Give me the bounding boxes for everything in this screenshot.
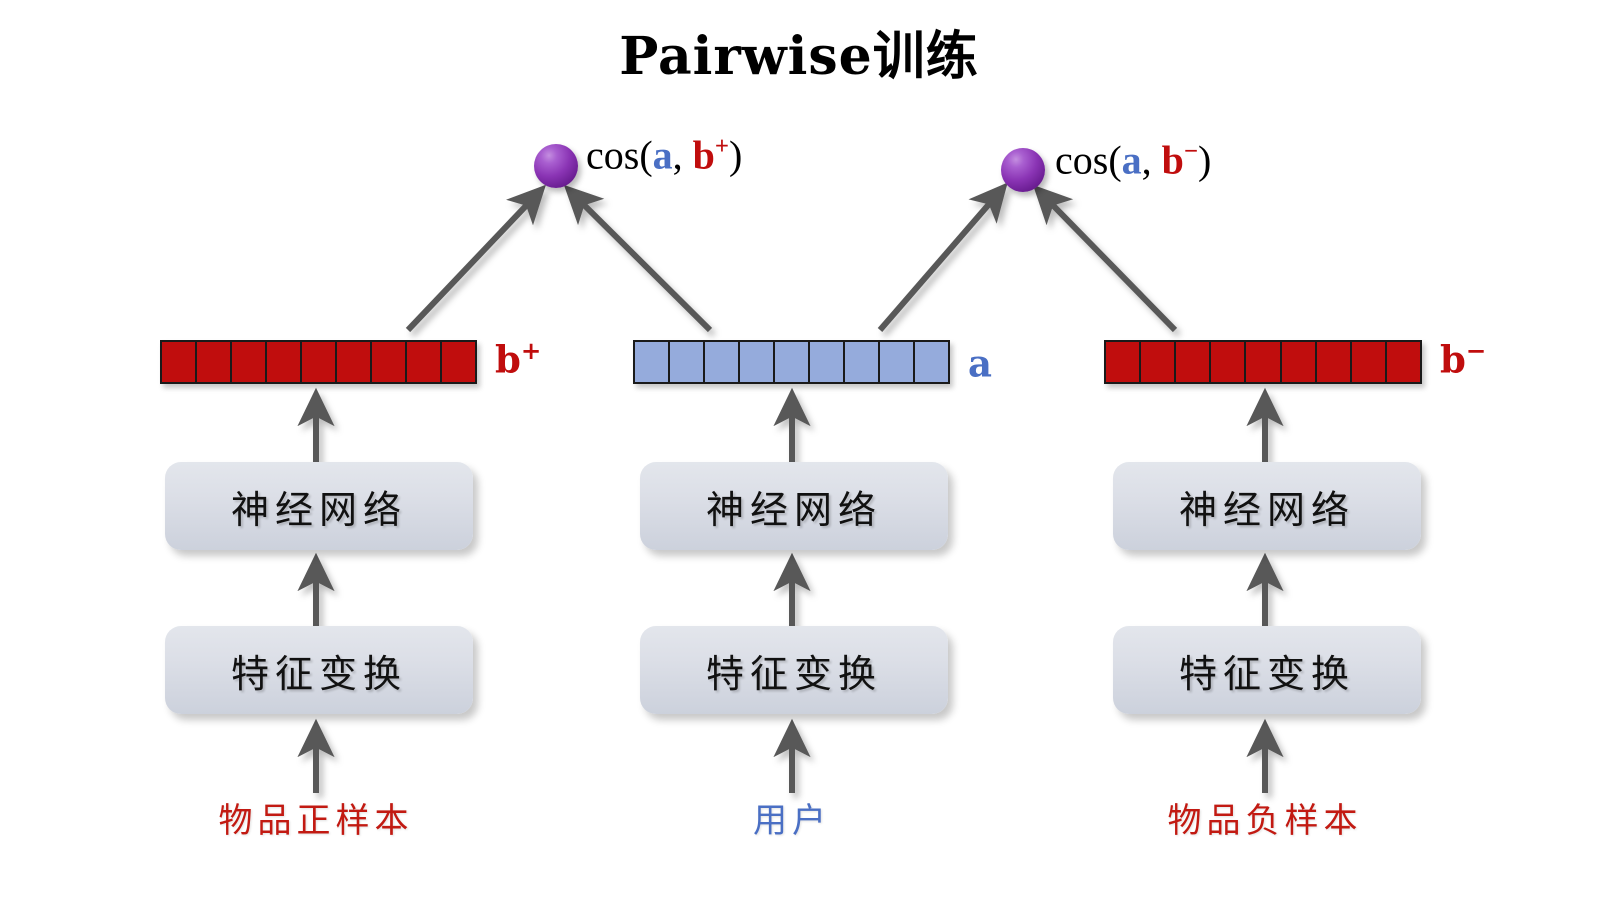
vector-cell xyxy=(337,342,372,382)
vector-cell xyxy=(302,342,337,382)
vector-cell xyxy=(267,342,302,382)
page-title: Pairwise训练 xyxy=(0,14,1598,89)
vector-cell xyxy=(705,342,740,382)
cos-arg-b-negative: b xyxy=(1162,137,1184,182)
score-expression-positive: cos(a, b+) xyxy=(586,135,742,175)
vector-cell xyxy=(1141,342,1176,382)
arrow-bminus-to-score-negative xyxy=(1038,190,1175,330)
feature-transform-box-negative[interactable]: 特征变换 xyxy=(1113,626,1421,714)
vector-cell xyxy=(880,342,915,382)
neural-network-box-label: 神经网络 xyxy=(706,479,882,534)
vector-cell xyxy=(1352,342,1387,382)
vector-cell xyxy=(1211,342,1246,382)
vector-cell xyxy=(915,342,948,382)
vector-cell xyxy=(372,342,407,382)
arrow-bplus-to-score-positive xyxy=(408,190,541,330)
cos-suffix-positive: ) xyxy=(729,132,742,177)
vector-a[interactable] xyxy=(633,340,950,384)
feature-transform-box-label: 特征变换 xyxy=(1179,643,1355,698)
diagram-canvas: Pairwise训练 xyxy=(0,0,1598,898)
cos-arg-b-sign-positive: + xyxy=(715,133,729,160)
vector-cell xyxy=(1387,342,1420,382)
vector-cell xyxy=(1176,342,1211,382)
vector-label-a: a xyxy=(968,343,992,382)
vector-cell xyxy=(845,342,880,382)
score-expression-negative: cos(a, b−) xyxy=(1055,140,1211,180)
vector-cell xyxy=(740,342,775,382)
cos-separator-positive: , xyxy=(673,132,693,177)
vector-cell xyxy=(810,342,845,382)
cos-prefix-negative: cos( xyxy=(1055,137,1122,182)
vector-cell xyxy=(407,342,442,382)
arrow-a-to-score-negative xyxy=(880,188,1003,330)
feature-transform-box-label: 特征变换 xyxy=(706,643,882,698)
vector-label-b-plus: b+ xyxy=(495,339,541,378)
vector-b-plus[interactable] xyxy=(160,340,477,384)
feature-transform-box-label: 特征变换 xyxy=(231,643,407,698)
vector-cell xyxy=(1246,342,1281,382)
feature-transform-box-positive[interactable]: 特征变换 xyxy=(165,626,473,714)
vector-cell xyxy=(162,342,197,382)
source-label-item-negative: 物品负样本 xyxy=(1115,793,1415,842)
vector-label-base: b xyxy=(495,337,521,381)
vector-b-minus[interactable] xyxy=(1104,340,1422,384)
score-node-positive[interactable] xyxy=(534,144,578,188)
neural-network-box-negative[interactable]: 神经网络 xyxy=(1113,462,1421,550)
cos-prefix-positive: cos( xyxy=(586,132,653,177)
arrow-layer xyxy=(0,0,1598,898)
cos-separator-negative: , xyxy=(1142,137,1162,182)
vector-cell xyxy=(1317,342,1352,382)
vector-label-base: b xyxy=(1440,337,1466,381)
score-node-negative[interactable] xyxy=(1001,148,1045,192)
vector-label-superscript: − xyxy=(1466,336,1486,365)
cos-arg-a-negative: a xyxy=(1122,137,1142,182)
arrow-a-to-score-positive xyxy=(569,190,710,330)
feature-transform-box-user[interactable]: 特征变换 xyxy=(640,626,948,714)
cos-arg-b-positive: b xyxy=(693,132,715,177)
vector-cell xyxy=(635,342,670,382)
vector-cell xyxy=(775,342,810,382)
neural-network-box-positive[interactable]: 神经网络 xyxy=(165,462,473,550)
cos-arg-b-sign-negative: − xyxy=(1184,138,1198,165)
vector-cell xyxy=(197,342,232,382)
neural-network-box-user[interactable]: 神经网络 xyxy=(640,462,948,550)
vector-label-b-minus: b− xyxy=(1440,339,1486,378)
vector-label-base: a xyxy=(968,341,992,385)
vector-cell xyxy=(670,342,705,382)
cos-suffix-negative: ) xyxy=(1198,137,1211,182)
vector-cell xyxy=(232,342,267,382)
source-label-item-positive: 物品正样本 xyxy=(166,793,466,842)
vector-cell xyxy=(442,342,475,382)
source-label-user: 用户 xyxy=(642,793,942,842)
neural-network-box-label: 神经网络 xyxy=(1179,479,1355,534)
vector-label-superscript: + xyxy=(521,336,541,365)
cos-arg-a-positive: a xyxy=(653,132,673,177)
neural-network-box-label: 神经网络 xyxy=(231,479,407,534)
vector-cell xyxy=(1282,342,1317,382)
vector-cell xyxy=(1106,342,1141,382)
